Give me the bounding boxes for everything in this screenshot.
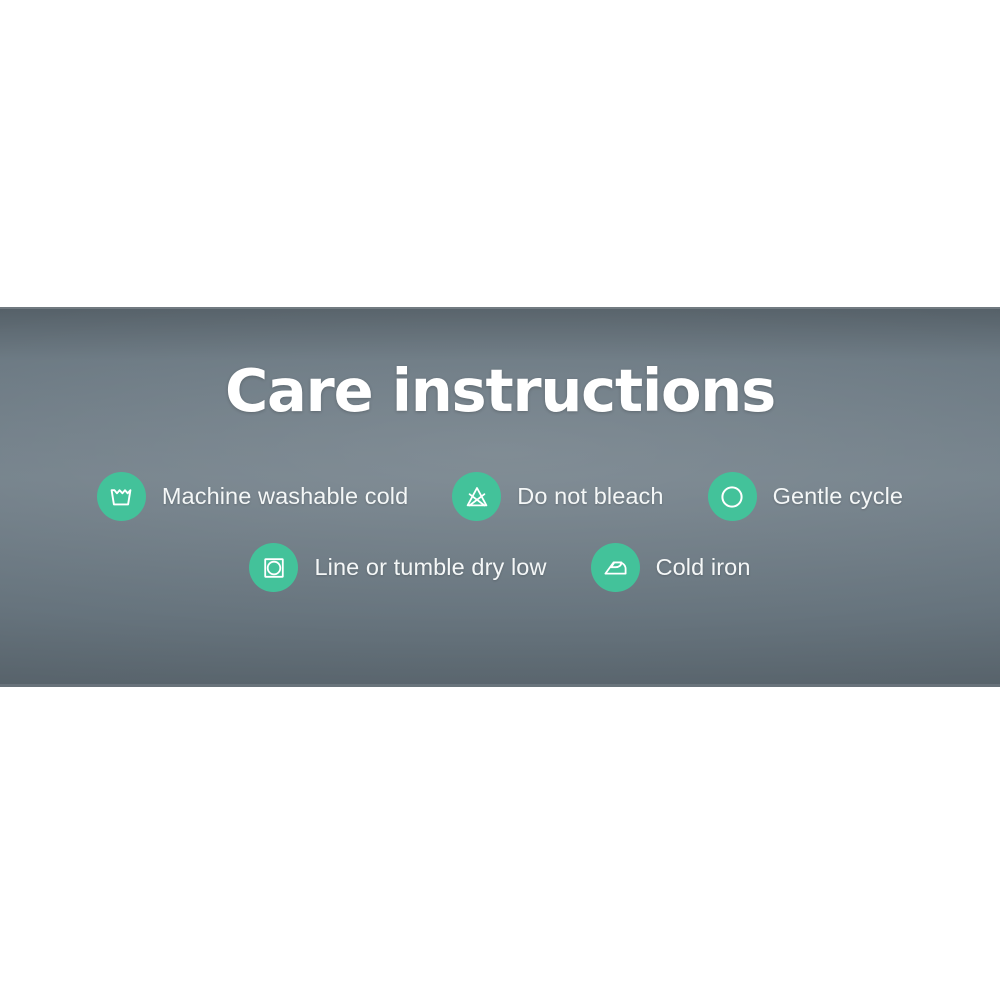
wash-tub-icon bbox=[97, 472, 146, 521]
care-symbol-list: Machine washable cold Do not bleach bbox=[0, 472, 1000, 592]
care-item-gentle-cycle: Gentle cycle bbox=[708, 472, 904, 521]
care-item-label: Line or tumble dry low bbox=[314, 554, 546, 581]
care-item-label: Cold iron bbox=[656, 554, 751, 581]
care-item-do-not-bleach: Do not bleach bbox=[452, 472, 663, 521]
do-not-bleach-triangle-icon bbox=[452, 472, 501, 521]
tumble-dry-square-circle-icon bbox=[249, 543, 298, 592]
care-row: Machine washable cold Do not bleach bbox=[0, 472, 1000, 521]
page-title: Care instructions bbox=[0, 355, 1000, 427]
gentle-cycle-circle-icon bbox=[708, 472, 757, 521]
care-item-label: Do not bleach bbox=[517, 483, 663, 510]
care-item-label: Machine washable cold bbox=[162, 483, 408, 510]
banner-content: Care instructions Machine washable cold bbox=[0, 0, 1000, 1000]
care-instructions-banner: Care instructions Machine washable cold bbox=[0, 0, 1000, 1000]
care-item-machine-washable-cold: Machine washable cold bbox=[97, 472, 408, 521]
care-item-cold-iron: Cold iron bbox=[591, 543, 751, 592]
care-row: Line or tumble dry low Cold iron bbox=[0, 543, 1000, 592]
iron-icon bbox=[591, 543, 640, 592]
care-item-label: Gentle cycle bbox=[773, 483, 904, 510]
care-item-line-or-tumble-dry-low: Line or tumble dry low bbox=[249, 543, 546, 592]
